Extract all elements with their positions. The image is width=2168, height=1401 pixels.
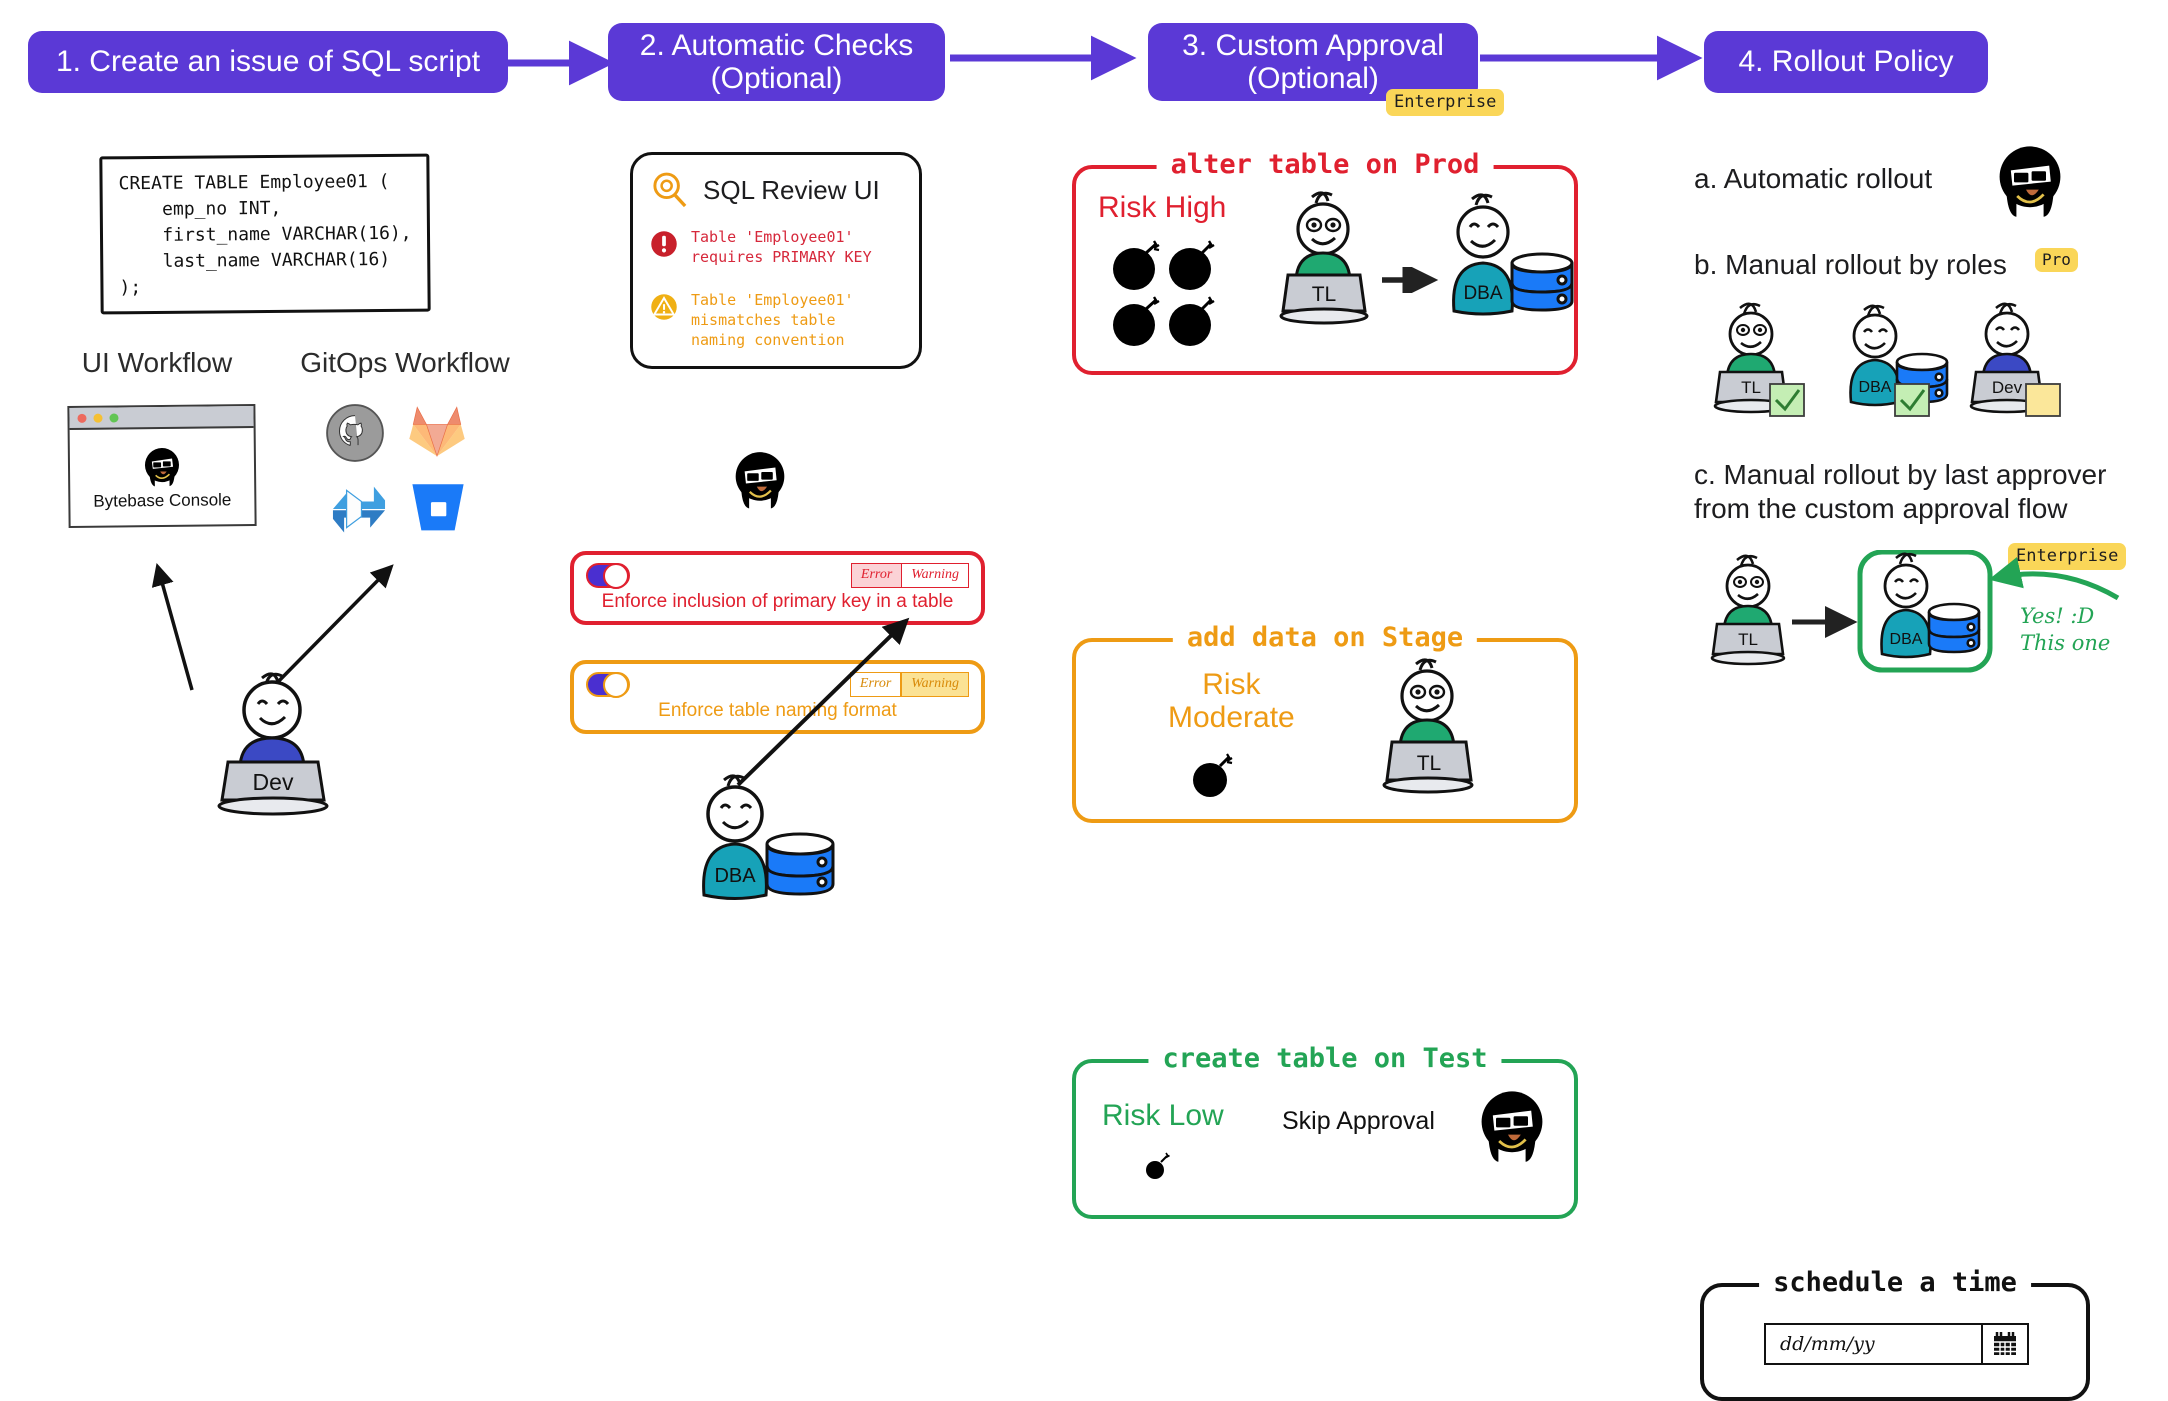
rollout-option-b: b. Manual rollout by roles — [1694, 248, 2007, 282]
bytebase-mascot-icon — [1990, 140, 2070, 220]
gitops-workflow-heading: GitOps Workflow — [290, 347, 520, 379]
svg-text:Dev: Dev — [1992, 378, 2023, 397]
bytebase-console-label: Bytebase Console — [93, 490, 231, 511]
ui-workflow-heading: UI Workflow — [72, 347, 242, 379]
sql-review-finding-error: Table 'Employee01' requires PRIMARY KEY — [691, 227, 872, 268]
step-2-header: 2. Automatic Checks (Optional) — [608, 23, 945, 101]
step-4-label: 4. Rollout Policy — [1738, 45, 1953, 79]
rollout-option-b-pro-badge: Pro — [2035, 248, 2078, 272]
rule-toggle-table-naming[interactable] — [586, 672, 630, 697]
dba-actor: DBA — [690, 770, 860, 920]
risk-level-low: Risk Low — [1102, 1099, 1224, 1132]
step-3-label-line1: 3. Custom Approval — [1182, 29, 1444, 62]
bytebase-mascot-icon — [1472, 1085, 1552, 1165]
svg-text:TL: TL — [1738, 630, 1758, 649]
risk-box-title-add-data-stage: add data on Stage — [1173, 622, 1477, 653]
bitbucket-icon[interactable] — [406, 474, 470, 538]
severity-option-warning[interactable]: Warning — [901, 563, 969, 588]
window-content: Bytebase Console — [70, 428, 255, 526]
bomb-group-1 — [1188, 746, 1244, 802]
step-2-label-line1: 2. Automatic Checks — [640, 29, 913, 62]
approval-arrow — [1380, 267, 1442, 293]
magnifier-icon — [649, 169, 691, 211]
dev-actor-label: Dev — [253, 769, 294, 795]
minimize-dot-icon[interactable] — [93, 413, 102, 422]
schedule-time-title: schedule a time — [1759, 1267, 2031, 1298]
risk-box-title-alter-table-prod: alter table on Prod — [1157, 149, 1494, 180]
approver-tl-label: TL — [1417, 752, 1442, 775]
risk-level-moderate: Risk Moderate — [1168, 668, 1295, 734]
last-approver-annotation: Yes! :D This one — [2020, 603, 2110, 658]
severity-option-error[interactable]: Error — [851, 563, 901, 588]
rule-severity-segmented-primary-key[interactable]: Error Warning — [851, 563, 969, 588]
schedule-date-input[interactable]: dd/mm/yy — [1764, 1323, 2029, 1365]
sql-review-title: SQL Review UI — [703, 175, 880, 206]
last-approver-annotation-line2: This one — [2020, 630, 2110, 657]
svg-text:TL: TL — [1741, 378, 1761, 397]
rule-toggle-primary-key[interactable] — [586, 563, 630, 588]
approver-tl-label: TL — [1312, 283, 1337, 306]
svg-text:DBA: DBA — [1859, 379, 1892, 396]
dev-actor: Dev — [200, 670, 350, 820]
dba-actor-label: DBA — [714, 865, 756, 887]
maximize-dot-icon[interactable] — [109, 413, 118, 422]
error-circle-icon — [649, 229, 679, 259]
role-dba: DBA — [1851, 306, 1948, 416]
risk-level-moderate-line2: Moderate — [1168, 701, 1295, 734]
approver-tl: TL — [1376, 654, 1486, 809]
sql-review-finding-warning: Table 'Employee01' mismatches table nami… — [691, 290, 854, 351]
step-1-label: 1. Create an issue of SQL script — [56, 45, 480, 79]
risk-level-high: Risk High — [1098, 191, 1226, 224]
step-3-enterprise-badge: Enterprise — [1386, 89, 1504, 116]
bomb-group-small — [1142, 1147, 1178, 1183]
window-titlebar — [69, 406, 253, 430]
flow-role-tl: TL — [1712, 556, 1784, 664]
step-4-header: 4. Rollout Policy — [1704, 31, 1988, 93]
flow-role-dba: DBA — [1882, 554, 1980, 657]
sql-script-block: CREATE TABLE Employee01 ( emp_no INT, fi… — [99, 154, 430, 315]
bytebase-console-window[interactable]: Bytebase Console — [67, 404, 256, 528]
sql-review-card: SQL Review UI Table 'Employee01' require… — [630, 152, 922, 369]
rollout-option-c-line2: from the custom approval flow — [1694, 492, 2106, 526]
rollout-option-a: a. Automatic rollout — [1694, 162, 1932, 196]
approver-dba-label: DBA — [1463, 283, 1502, 304]
rollout-option-c: c. Manual rollout by last approver from … — [1694, 458, 2106, 526]
gitlab-icon[interactable] — [404, 398, 470, 464]
approver-tl: TL — [1272, 187, 1382, 337]
risk-box-add-data-stage: add data on Stage Risk Moderate TL — [1072, 638, 1578, 823]
bytebase-mascot-icon — [728, 447, 792, 511]
risk-level-moderate-line1: Risk — [1168, 668, 1295, 701]
close-dot-icon[interactable] — [77, 413, 86, 422]
role-approval-row: TL DBA Dev — [1696, 300, 2136, 430]
risk-box-title-create-table-test: create table on Test — [1148, 1043, 1501, 1074]
svg-text:DBA: DBA — [1890, 631, 1923, 648]
schedule-time-box: schedule a time dd/mm/yy — [1700, 1283, 2090, 1401]
calendar-icon[interactable] — [1981, 1325, 2027, 1363]
risk-box-create-table-test: create table on Test Risk Low Skip Appro… — [1072, 1059, 1578, 1219]
github-icon[interactable] — [324, 402, 386, 464]
schedule-date-value[interactable]: dd/mm/yy — [1766, 1325, 1981, 1363]
step-3-label-line2: (Optional) — [1247, 62, 1379, 95]
rollout-option-c-line1: c. Manual rollout by last approver — [1694, 458, 2106, 492]
role-tl: TL — [1715, 304, 1804, 416]
bomb-group-4 — [1108, 233, 1218, 353]
bytebase-mascot-icon — [139, 443, 185, 489]
warning-triangle-icon — [649, 292, 679, 322]
approver-dba: DBA — [1440, 187, 1580, 337]
step-1-header: 1. Create an issue of SQL script — [28, 31, 508, 93]
skip-approval-label: Skip Approval — [1282, 1107, 1435, 1136]
risk-box-alter-table-prod: alter table on Prod Risk High TL DBA — [1072, 165, 1578, 375]
step-2-label-line2: (Optional) — [711, 62, 843, 95]
last-approver-annotation-line1: Yes! :D — [2020, 603, 2110, 630]
role-dev: Dev — [1971, 304, 2060, 416]
azure-devops-icon[interactable] — [328, 478, 390, 540]
